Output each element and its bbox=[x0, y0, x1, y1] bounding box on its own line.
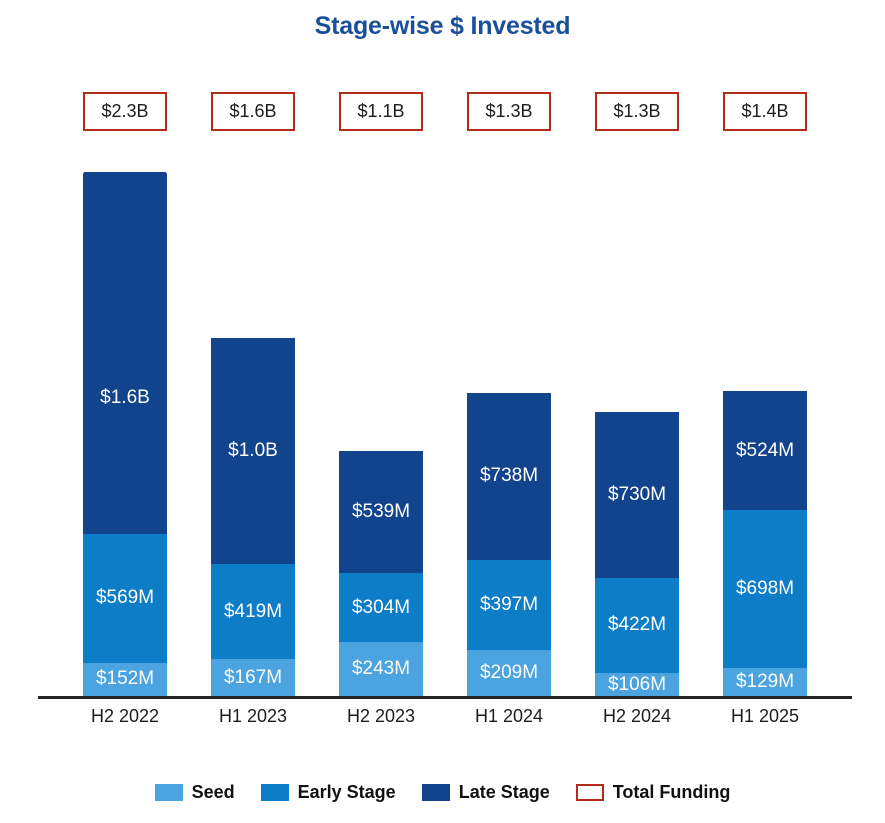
segment-value-label: $397M bbox=[480, 594, 538, 616]
total-funding-box: $1.3B bbox=[467, 92, 551, 131]
bar-segment-early-stage[interactable]: $569M bbox=[83, 534, 167, 663]
total-funding-box: $2.3B bbox=[83, 92, 167, 131]
segment-value-label: $730M bbox=[608, 484, 666, 506]
x-axis-label: H1 2023 bbox=[197, 706, 309, 727]
bar-segment-late-stage[interactable]: $1.0B bbox=[211, 338, 295, 564]
stacked-bar[interactable]: $738M$397M$209M bbox=[467, 171, 551, 697]
chart-root: Stage-wise $ Invested $2.3B$1.6B$569M$15… bbox=[0, 0, 885, 823]
stacked-bar[interactable]: $524M$698M$129M bbox=[723, 171, 807, 697]
bar-segment-early-stage[interactable]: $304M bbox=[339, 573, 423, 642]
total-funding-box: $1.4B bbox=[723, 92, 807, 131]
bar-segment-early-stage[interactable]: $698M bbox=[723, 510, 807, 668]
bar-segment-seed[interactable]: $209M bbox=[467, 650, 551, 697]
segment-value-label: $209M bbox=[480, 662, 538, 685]
segment-value-label: $129M bbox=[736, 671, 794, 694]
legend-item[interactable]: Late Stage bbox=[422, 782, 550, 803]
segment-value-label: $569M bbox=[96, 587, 154, 609]
segment-value-label: $419M bbox=[224, 601, 282, 623]
bar-segment-seed[interactable]: $243M bbox=[339, 642, 423, 697]
segment-value-label: $422M bbox=[608, 614, 666, 636]
legend-item[interactable]: Seed bbox=[155, 782, 235, 803]
segment-value-label: $106M bbox=[608, 674, 666, 697]
x-axis-label: H2 2023 bbox=[325, 706, 437, 727]
segment-value-label: $698M bbox=[736, 578, 794, 600]
legend-label: Total Funding bbox=[613, 782, 731, 803]
bar-segment-late-stage[interactable]: $738M bbox=[467, 393, 551, 560]
segment-value-label: $539M bbox=[352, 501, 410, 523]
segment-value-label: $1.0B bbox=[228, 440, 278, 462]
bar-segment-seed[interactable]: $129M bbox=[723, 668, 807, 697]
total-funding-box: $1.6B bbox=[211, 92, 295, 131]
total-funding-box: $1.1B bbox=[339, 92, 423, 131]
bar-segment-late-stage[interactable]: $730M bbox=[595, 412, 679, 577]
bar-segment-seed[interactable]: $106M bbox=[595, 673, 679, 697]
legend-swatch-late-icon bbox=[422, 784, 450, 801]
legend-swatch-early-icon bbox=[261, 784, 289, 801]
bar-group: $1.3B$730M$422M$106MH2 2024 bbox=[595, 0, 679, 730]
x-axis-label: H1 2024 bbox=[453, 706, 565, 727]
segment-value-label: $524M bbox=[736, 440, 794, 462]
total-funding-box: $1.3B bbox=[595, 92, 679, 131]
bar-group: $1.6B$1.0B$419M$167MH1 2023 bbox=[211, 0, 295, 730]
legend-item[interactable]: Total Funding bbox=[576, 782, 731, 803]
segment-value-label: $738M bbox=[480, 465, 538, 487]
segment-value-label: $1.6B bbox=[100, 387, 150, 409]
bar-segment-late-stage[interactable]: $1.6B bbox=[83, 172, 167, 534]
x-axis-label: H2 2024 bbox=[581, 706, 693, 727]
bar-segment-early-stage[interactable]: $422M bbox=[595, 578, 679, 673]
bar-segment-seed[interactable]: $167M bbox=[211, 659, 295, 697]
bar-segment-early-stage[interactable]: $419M bbox=[211, 564, 295, 659]
legend-label: Late Stage bbox=[459, 782, 550, 803]
segment-value-label: $304M bbox=[352, 597, 410, 619]
stacked-bar[interactable]: $1.6B$569M$152M bbox=[83, 171, 167, 697]
bar-group: $2.3B$1.6B$569M$152MH2 2022 bbox=[83, 0, 167, 730]
x-axis-label: H1 2025 bbox=[709, 706, 821, 727]
legend-swatch-total-icon bbox=[576, 784, 604, 801]
stacked-bar[interactable]: $1.0B$419M$167M bbox=[211, 171, 295, 697]
bar-group: $1.4B$524M$698M$129MH1 2025 bbox=[723, 0, 807, 730]
legend-item[interactable]: Early Stage bbox=[261, 782, 396, 803]
stacked-bar[interactable]: $539M$304M$243M bbox=[339, 171, 423, 697]
plot-area: $2.3B$1.6B$569M$152MH2 2022$1.6B$1.0B$41… bbox=[0, 0, 885, 730]
legend-label: Seed bbox=[192, 782, 235, 803]
chart-legend: SeedEarly StageLate StageTotal Funding bbox=[0, 782, 885, 803]
bar-group: $1.3B$738M$397M$209MH1 2024 bbox=[467, 0, 551, 730]
bar-segment-late-stage[interactable]: $539M bbox=[339, 451, 423, 573]
segment-value-label: $243M bbox=[352, 658, 410, 681]
legend-label: Early Stage bbox=[298, 782, 396, 803]
bar-segment-early-stage[interactable]: $397M bbox=[467, 560, 551, 650]
segment-value-label: $152M bbox=[96, 668, 154, 691]
bar-segment-seed[interactable]: $152M bbox=[83, 663, 167, 697]
legend-swatch-seed-icon bbox=[155, 784, 183, 801]
x-axis-label: H2 2022 bbox=[69, 706, 181, 727]
segment-value-label: $167M bbox=[224, 667, 282, 690]
x-axis-line bbox=[38, 696, 852, 699]
stacked-bar[interactable]: $730M$422M$106M bbox=[595, 171, 679, 697]
bar-segment-late-stage[interactable]: $524M bbox=[723, 391, 807, 510]
bar-group: $1.1B$539M$304M$243MH2 2023 bbox=[339, 0, 423, 730]
